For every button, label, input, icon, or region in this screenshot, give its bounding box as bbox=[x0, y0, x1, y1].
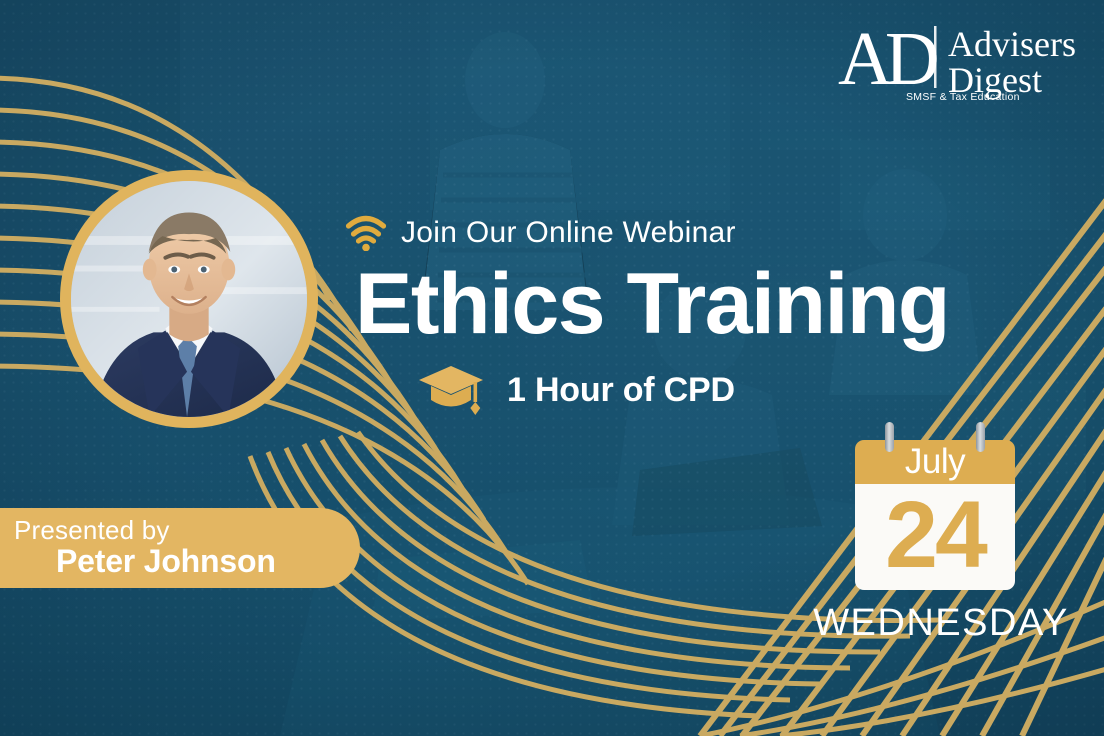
logo-name-line1: Advisers bbox=[948, 24, 1076, 64]
kicker-text: Join Our Online Webinar bbox=[401, 216, 736, 250]
logo-divider bbox=[934, 26, 937, 88]
calendar-body: 24 bbox=[855, 484, 1015, 590]
brand-logo: AD Advisers Digest SMSF & Tax Education bbox=[836, 16, 1086, 108]
kicker-row: Join Our Online Webinar bbox=[345, 215, 965, 251]
logo-tagline: SMSF & Tax Education bbox=[906, 91, 1020, 103]
page-title: Ethics Training bbox=[355, 259, 965, 350]
logo-monogram: AD bbox=[838, 17, 937, 101]
event-date-block: July 24 WEDNESDAY bbox=[806, 440, 1076, 645]
headline-block: Join Our Online Webinar Ethics Training … bbox=[345, 215, 965, 416]
calendar-month: July bbox=[905, 444, 965, 479]
calendar-day: 24 bbox=[885, 495, 985, 576]
cpd-text: 1 Hour of CPD bbox=[507, 371, 735, 410]
calendar-header: July bbox=[855, 440, 1015, 484]
presented-by-label: Presented by bbox=[14, 517, 360, 544]
webinar-promo-poster: Join Our Online Webinar Ethics Training … bbox=[0, 0, 1104, 736]
presenter-name: Peter Johnson bbox=[14, 544, 360, 579]
calendar-weekday: WEDNESDAY bbox=[806, 602, 1076, 645]
cpd-row: 1 Hour of CPD bbox=[417, 364, 965, 416]
presenter-banner: Presented by Peter Johnson bbox=[0, 508, 360, 588]
calendar-card: July 24 bbox=[855, 440, 1015, 590]
wifi-icon bbox=[345, 215, 387, 251]
graduation-cap-icon bbox=[417, 364, 485, 416]
presenter-portrait bbox=[60, 170, 318, 428]
calendar-ring-right-icon bbox=[976, 422, 985, 452]
calendar-ring-left-icon bbox=[885, 422, 894, 452]
